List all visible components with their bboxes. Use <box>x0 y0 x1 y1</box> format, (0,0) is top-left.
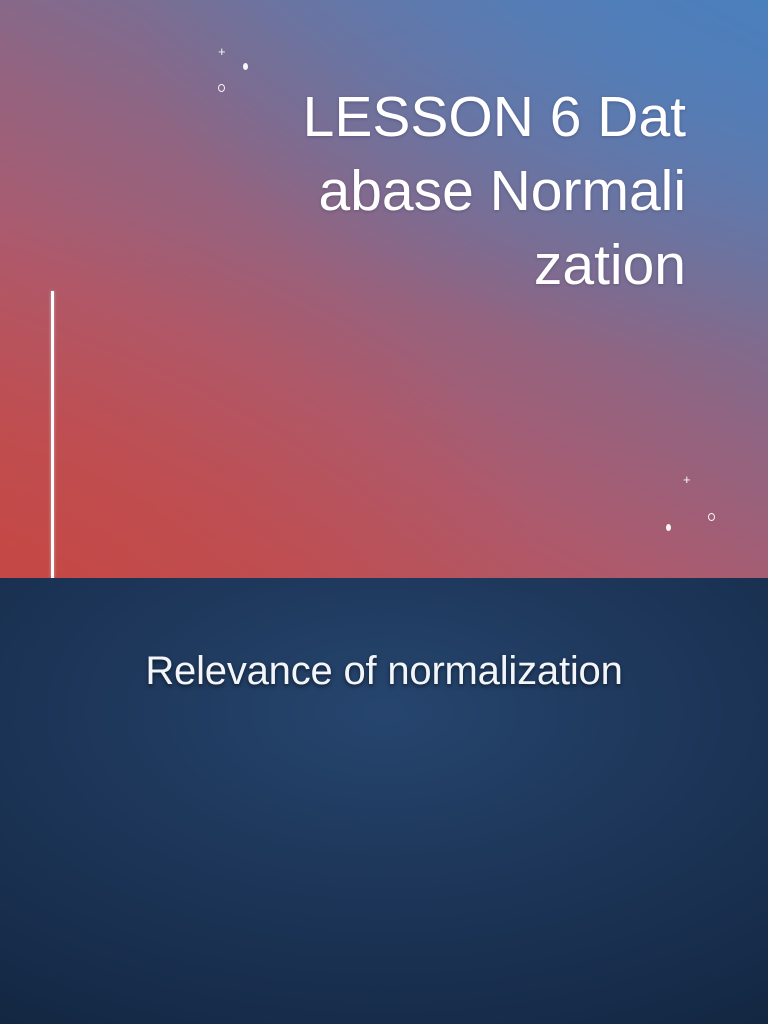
title-slide: + + LESSON 6 Database Normalization <box>0 0 768 578</box>
ring-mark-icon-secondary <box>708 513 715 521</box>
dot-mark-icon-secondary <box>666 524 671 531</box>
plus-mark-icon-secondary: + <box>683 473 691 486</box>
content-slide-title: Relevance of normalization <box>0 649 768 694</box>
vertical-accent-line <box>51 291 54 578</box>
plus-mark-icon: + <box>218 45 226 58</box>
content-slide: Relevance of normalization • We could ha… <box>0 578 768 1024</box>
dot-mark-icon <box>243 63 248 70</box>
ring-mark-icon <box>218 84 225 92</box>
slide-deck-page: + + LESSON 6 Database Normalization Rele… <box>0 0 768 1024</box>
lesson-title: LESSON 6 Database Normalization <box>296 80 686 302</box>
